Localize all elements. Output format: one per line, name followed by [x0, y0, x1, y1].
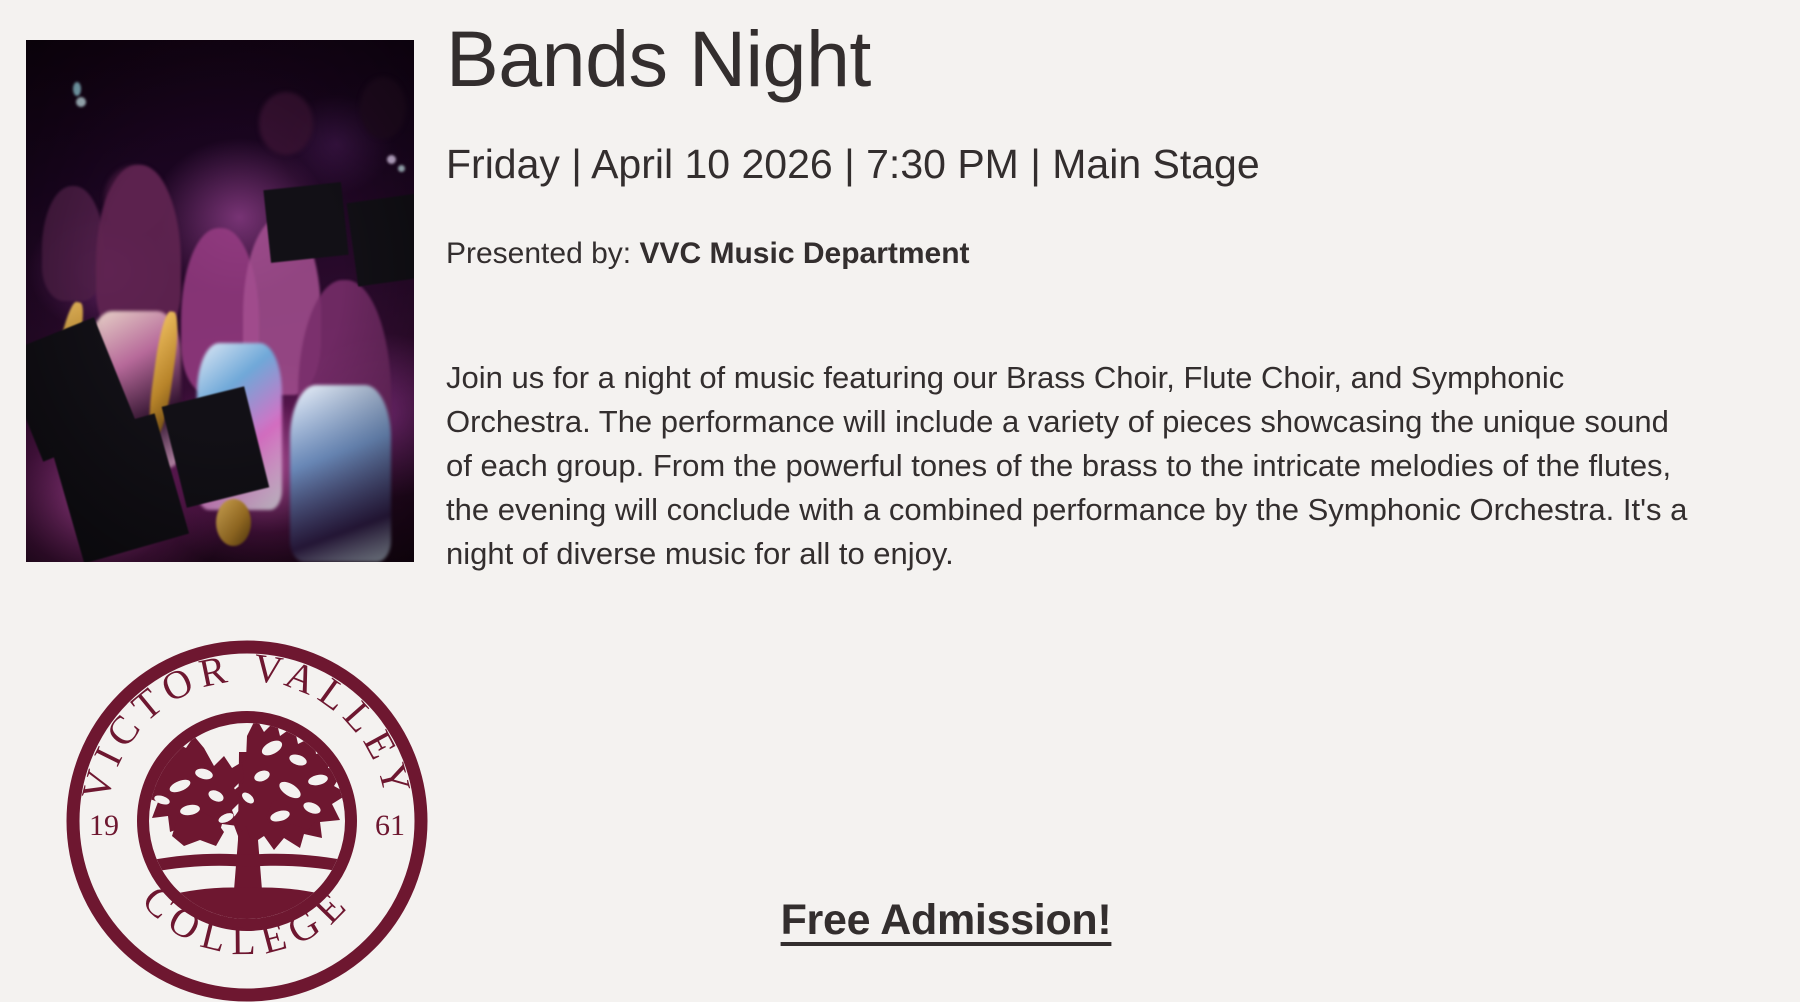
- victor-valley-college-seal: VICTOR VALLEY COLLEGE 19 61: [66, 640, 428, 1002]
- seal-year-right: 61: [375, 809, 405, 842]
- free-admission-note: Free Admission!: [781, 896, 1112, 945]
- right-column: Bands Night Friday | April 10 2026 | 7:3…: [446, 0, 1766, 576]
- admission-row: Free Admission!: [446, 896, 1446, 945]
- presented-by-label: Presented by:: [446, 237, 631, 270]
- page-title: Bands Night: [446, 0, 1766, 101]
- concert-band-performance-photo: [26, 40, 414, 562]
- presented-by: Presented by: VVC Music Department: [446, 188, 1766, 272]
- event-flyer: VICTOR VALLEY COLLEGE 19 61 Bands Night …: [0, 0, 1800, 1000]
- left-column: VICTOR VALLEY COLLEGE 19 61: [26, 40, 416, 562]
- presented-by-org: VVC Music Department: [639, 237, 969, 270]
- event-description: Join us for a night of music featuring o…: [446, 272, 1691, 576]
- seal-year-left: 19: [89, 809, 119, 842]
- photo-canvas: [26, 40, 414, 562]
- event-meta-line: Friday | April 10 2026 | 7:30 PM | Main …: [446, 101, 1766, 188]
- photo-vignette: [26, 40, 414, 562]
